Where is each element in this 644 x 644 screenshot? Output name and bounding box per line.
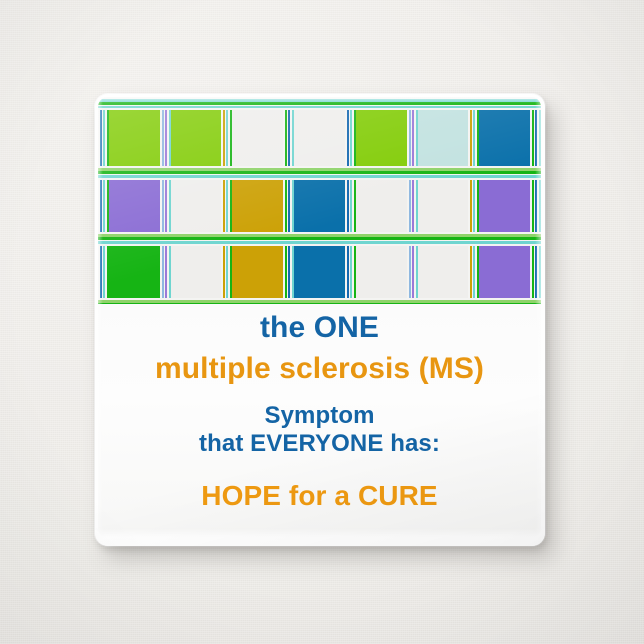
- plaid-vertical-stripe-band: [160, 180, 171, 232]
- plaid-cell: [294, 110, 345, 166]
- plaid-cell: [232, 180, 283, 232]
- message-panel: the ONE multiple sclerosis (MS) Symptom …: [98, 304, 541, 538]
- plaid-vertical-stripe-band: [98, 110, 109, 166]
- plaid-horizontal-stripe-band: [98, 97, 541, 110]
- plaid-cell: [418, 246, 469, 298]
- plaid-vertical-stripe-band: [407, 110, 418, 166]
- plaid-vertical-stripe-band: [468, 180, 479, 232]
- plaid-vertical-stripe-band: [98, 180, 109, 232]
- plaid-vertical-stripe-band: [160, 246, 171, 298]
- plaid-cell: [479, 246, 530, 298]
- plaid-vertical-stripe-band: [221, 110, 232, 166]
- plaid-cell: [418, 180, 469, 232]
- plaid-vertical-stripe-band: [98, 246, 109, 298]
- scene: the ONE multiple sclerosis (MS) Symptom …: [0, 0, 644, 644]
- plaid-vertical-stripe-band: [283, 180, 294, 232]
- plaid-horizontal-stripe-band: [98, 232, 541, 246]
- plaid-cell: [232, 110, 283, 166]
- message-line-4: that EVERYONE has:: [98, 431, 541, 457]
- plaid-cell: [356, 110, 407, 166]
- plaid-cell: [232, 246, 283, 298]
- plaid-vertical-stripe-band: [468, 110, 479, 166]
- plaid-vertical-stripe-band: [221, 246, 232, 298]
- plaid-horizontal-stripe-band: [98, 166, 541, 180]
- plaid-cell: [294, 180, 345, 232]
- plaid-cell: [356, 246, 407, 298]
- plaid-vertical-stripe-band: [530, 180, 541, 232]
- plaid-cell: [479, 180, 530, 232]
- plaid-vertical-stripe-band: [283, 110, 294, 166]
- plaid-vertical-stripe-band: [345, 110, 356, 166]
- plaid-row: [98, 110, 541, 166]
- plaid-row: [98, 246, 541, 298]
- plaid-cell: [479, 110, 530, 166]
- plaid-cell: [171, 110, 222, 166]
- plaid-vertical-stripe-band: [283, 246, 294, 298]
- plaid-cell: [109, 246, 160, 298]
- plaid-vertical-stripe-band: [407, 246, 418, 298]
- plaid-cell: [356, 180, 407, 232]
- plaid-vertical-stripe-band: [530, 110, 541, 166]
- message-line-2: multiple sclerosis (MS): [98, 353, 541, 385]
- plaid-vertical-stripe-band: [160, 110, 171, 166]
- plaid-vertical-stripe-band: [468, 246, 479, 298]
- plaid-cell: [109, 180, 160, 232]
- message-line-5: HOPE for a CURE: [98, 481, 541, 511]
- plaid-cell: [418, 110, 469, 166]
- plaid-vertical-stripe-band: [345, 180, 356, 232]
- plaid-pattern-artwork: [98, 97, 541, 304]
- plaid-vertical-stripe-band: [221, 180, 232, 232]
- message-line-3: Symptom: [98, 403, 541, 429]
- plaid-vertical-stripe-band: [407, 180, 418, 232]
- plaid-vertical-stripe-band: [530, 246, 541, 298]
- plaid-row: [98, 180, 541, 232]
- pinback-button-badge[interactable]: the ONE multiple sclerosis (MS) Symptom …: [95, 94, 545, 546]
- message-line-1: the ONE: [98, 312, 541, 344]
- plaid-cell: [109, 110, 160, 166]
- badge-face: the ONE multiple sclerosis (MS) Symptom …: [98, 97, 541, 538]
- plaid-vertical-stripe-band: [345, 246, 356, 298]
- plaid-cell: [171, 246, 222, 298]
- plaid-cell: [171, 180, 222, 232]
- plaid-cell: [294, 246, 345, 298]
